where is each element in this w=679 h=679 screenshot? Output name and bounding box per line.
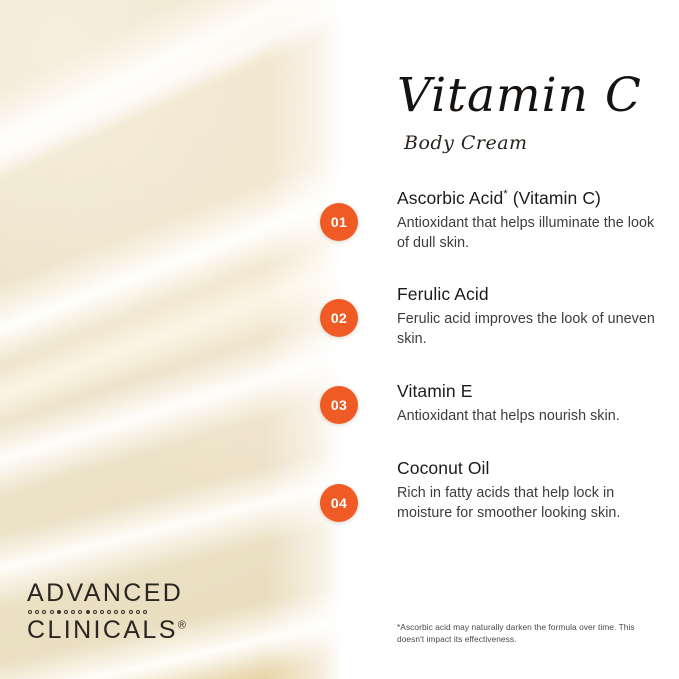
logo-dot: [42, 610, 46, 614]
ingredient-item-3: Vitamin E Antioxidant that helps nourish…: [397, 381, 665, 426]
ingredient-description-4: Rich in fatty acids that help lock in mo…: [397, 483, 665, 524]
logo-dot: [121, 610, 125, 614]
ingredient-name-1-main: Ascorbic Acid: [397, 188, 503, 208]
brand-logo-dot-divider: [28, 609, 186, 615]
ingredient-name-2: Ferulic Acid: [397, 284, 665, 304]
footnote-text: *Ascorbic acid may naturally darken the …: [397, 621, 647, 646]
logo-dot: [107, 610, 111, 614]
brand-logo-clinicals-text: CLINICALS: [27, 616, 178, 644]
product-title: Vitamin C: [397, 72, 642, 119]
logo-dot: [50, 610, 54, 614]
logo-dot: [143, 610, 147, 614]
ingredient-name-3: Vitamin E: [397, 381, 665, 401]
ingredient-badge-1: 01: [320, 203, 358, 241]
logo-dot: [28, 610, 32, 614]
ingredient-item-2: Ferulic Acid Ferulic acid improves the l…: [397, 284, 665, 350]
photo-edge-fade: [0, 0, 341, 679]
ingredient-item-1: Ascorbic Acid* (Vitamin C) Antioxidant t…: [397, 188, 665, 254]
ingredient-description-2: Ferulic acid improves the look of uneven…: [397, 309, 665, 350]
logo-dot: [136, 610, 140, 614]
registered-trademark-icon: ®: [178, 620, 186, 632]
logo-dot: [64, 610, 68, 614]
ingredient-badge-3: 03: [320, 386, 358, 424]
ingredient-name-1-suffix: (Vitamin C): [508, 188, 601, 208]
ingredient-item-4: Coconut Oil Rich in fatty acids that hel…: [397, 458, 665, 524]
cream-texture-photo: ADVANCED CLINICALS®: [0, 0, 341, 679]
brand-logo-line-clinicals: CLINICALS®: [27, 618, 186, 643]
content-panel: Vitamin C Body Cream Ascorbic Acid* (Vit…: [341, 0, 679, 679]
logo-dot: [78, 610, 82, 614]
brand-logo: ADVANCED CLINICALS®: [27, 581, 186, 643]
logo-dot: [114, 610, 118, 614]
ingredient-badge-2: 02: [320, 299, 358, 337]
logo-dot-filled: [57, 610, 61, 614]
product-title-block: Vitamin C Body Cream: [397, 72, 642, 154]
brand-logo-line-advanced: ADVANCED: [27, 581, 186, 606]
ingredient-name-4: Coconut Oil: [397, 458, 665, 478]
product-subtitle: Body Cream: [404, 132, 642, 154]
logo-dot: [129, 610, 133, 614]
ingredient-name-1: Ascorbic Acid* (Vitamin C): [397, 188, 665, 208]
ingredient-description-3: Antioxidant that helps nourish skin.: [397, 406, 665, 426]
logo-dot: [100, 610, 104, 614]
logo-dot: [71, 610, 75, 614]
ingredient-badge-4: 04: [320, 484, 358, 522]
logo-dot: [35, 610, 39, 614]
logo-dot-filled: [86, 610, 90, 614]
ingredient-description-1: Antioxidant that helps illuminate the lo…: [397, 213, 665, 254]
product-infographic: ADVANCED CLINICALS®: [0, 0, 679, 679]
logo-dot: [93, 610, 97, 614]
